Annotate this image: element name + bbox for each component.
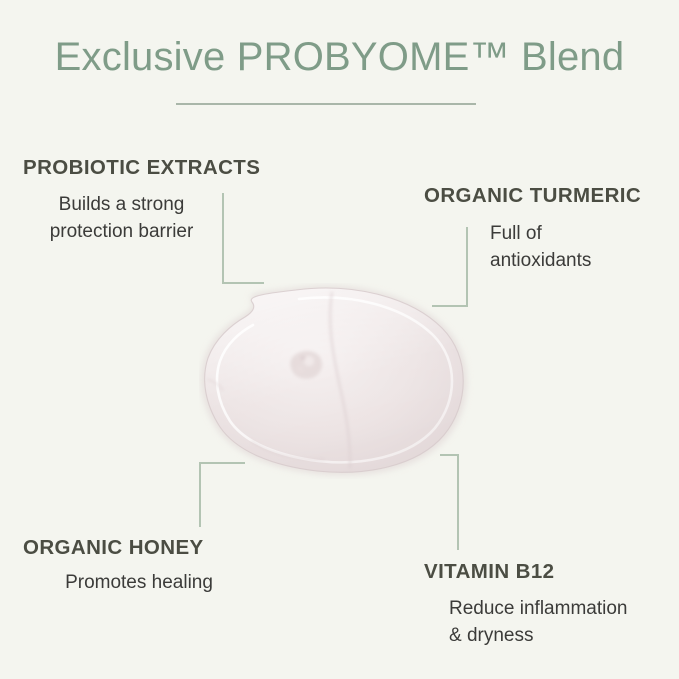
product-center-dimple [290,351,322,379]
callout-description-organic-honey: Promotes healing [25,570,253,597]
callout-description-organic-turmeric: Full of antioxidants [490,221,670,275]
callout-description-vitamin-b12: Reduce inflammation & dryness [449,596,674,650]
connector-segment-vertical [466,227,468,307]
connector-segment-vertical [222,193,224,284]
page-title: Exclusive PROBYOME™ Blend [0,34,679,80]
connector-segment-horizontal [222,282,264,284]
product-image-gel-pad [199,283,475,479]
callout-heading-vitamin-b12: VITAMIN B12 [424,560,554,585]
connector-segment-horizontal [432,305,467,307]
callout-heading-probiotic-extracts: PROBIOTIC EXTRACTS [23,156,260,181]
connector-segment-vertical [199,463,201,527]
connector-segment-horizontal [199,462,245,464]
callout-heading-organic-turmeric: ORGANIC TURMERIC [424,184,641,209]
infographic-canvas: Exclusive PROBYOME™ Blend [0,0,679,679]
title-divider [176,103,476,105]
callout-heading-organic-honey: ORGANIC HONEY [23,536,204,561]
connector-segment-vertical [457,455,459,550]
callout-description-probiotic-extracts: Builds a strong protection barrier [24,192,219,246]
